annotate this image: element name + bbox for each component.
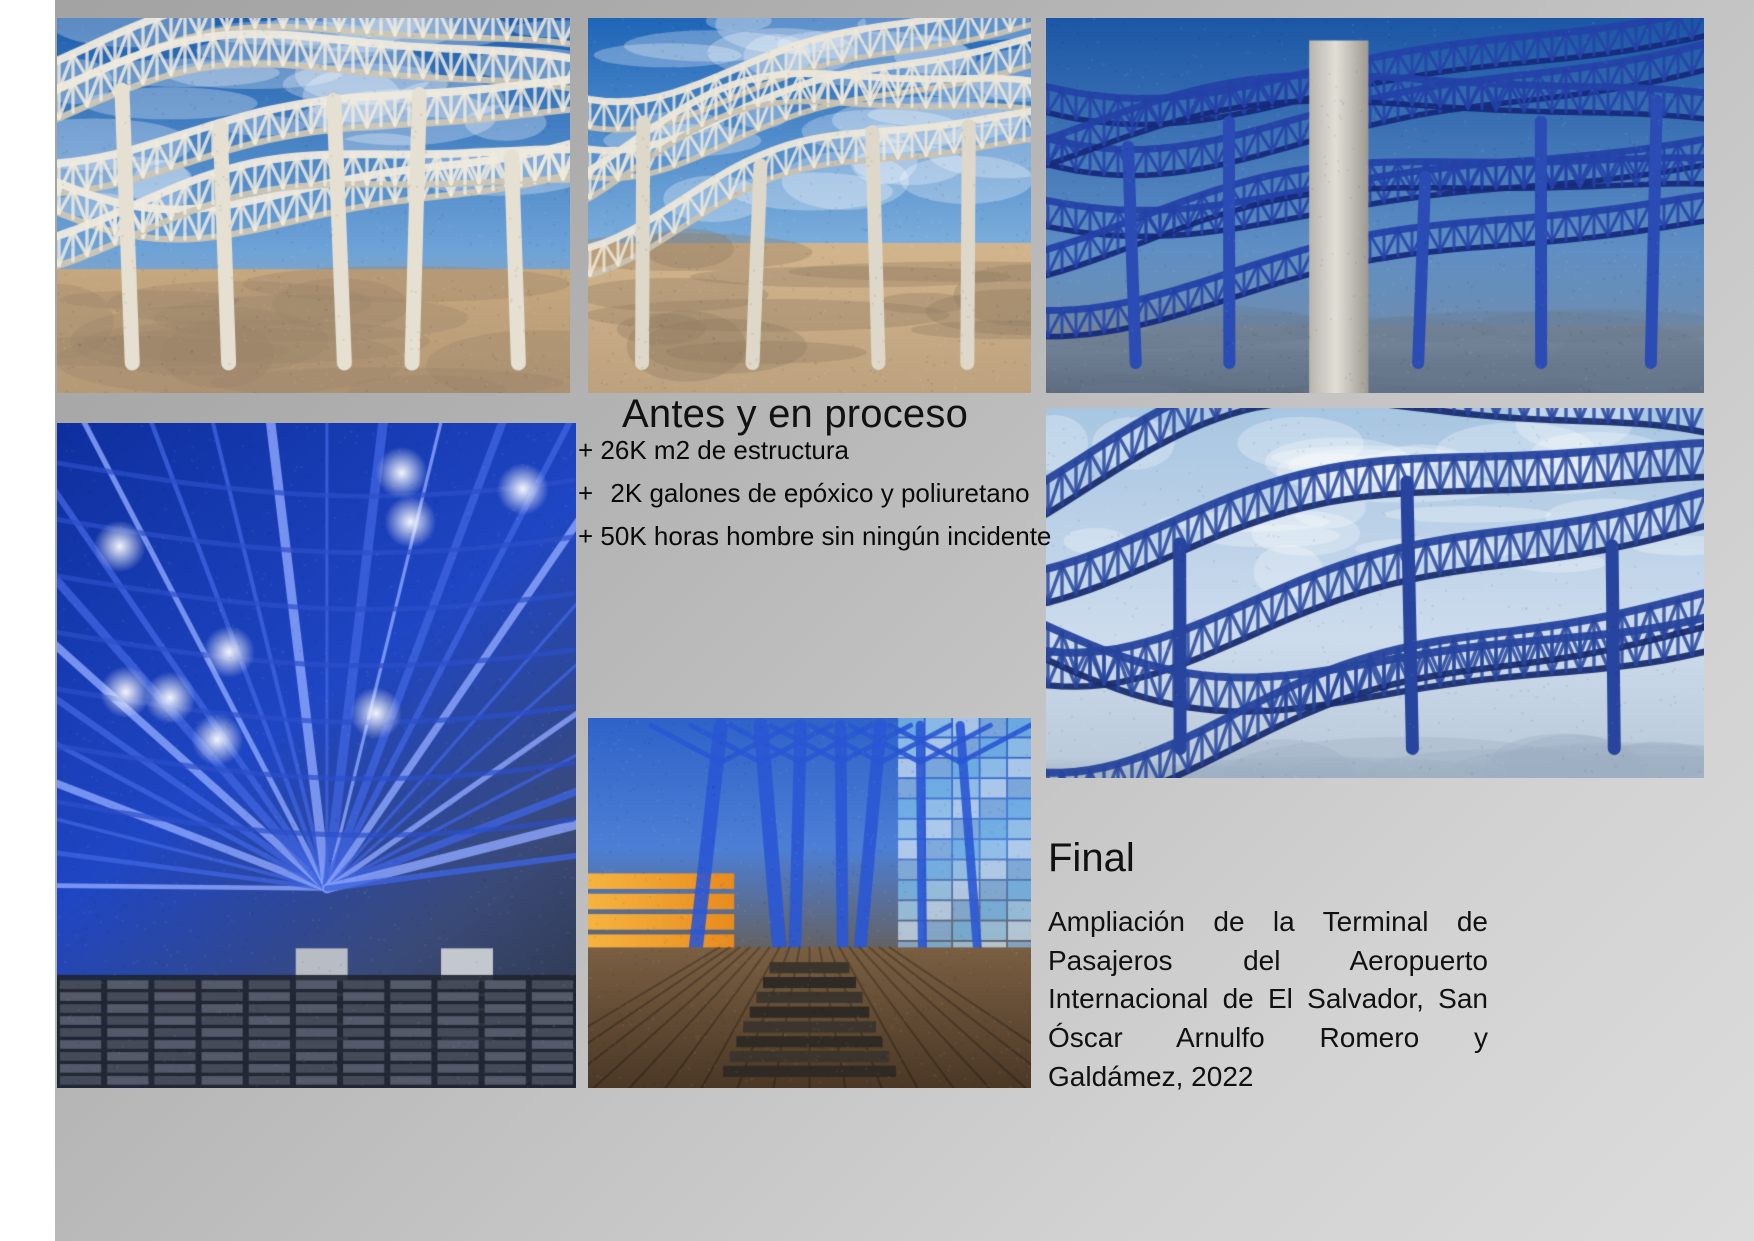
bullet-item-2: + 2K galones de epóxico y poliuretano bbox=[578, 478, 1030, 509]
photo-blue-interior-seating bbox=[57, 423, 576, 1088]
bullet-marker: + bbox=[578, 521, 593, 552]
presentation-slide: Antes y en proceso + 26K m2 de estructur… bbox=[0, 0, 1754, 1241]
bullet-marker: + bbox=[578, 478, 593, 509]
photo-white-truss-arches bbox=[588, 18, 1031, 393]
photo-white-truss-wide bbox=[57, 18, 570, 393]
photo-blue-truss-underside bbox=[1046, 408, 1704, 778]
bullet-text: 26K m2 de estructura bbox=[600, 435, 849, 465]
bullet-text: 2K galones de epóxico y poliuretano bbox=[610, 478, 1029, 508]
photo-blue-truss-column bbox=[1046, 18, 1704, 393]
bullet-item-1: + 26K m2 de estructura bbox=[578, 435, 849, 466]
bullet-item-3: + 50K horas hombre sin ningún incidente bbox=[578, 521, 1051, 552]
page-margin-left bbox=[0, 0, 55, 1241]
section-final-description: Ampliación de la Terminal de Pasajeros d… bbox=[1048, 903, 1488, 1096]
bullet-text: 50K horas hombre sin ningún incidente bbox=[600, 521, 1051, 551]
photo-concourse-interior bbox=[588, 718, 1031, 1088]
section-heading-final: Final bbox=[1048, 836, 1135, 881]
bullet-marker: + bbox=[578, 435, 593, 466]
section-heading-antes: Antes y en proceso bbox=[622, 392, 968, 437]
